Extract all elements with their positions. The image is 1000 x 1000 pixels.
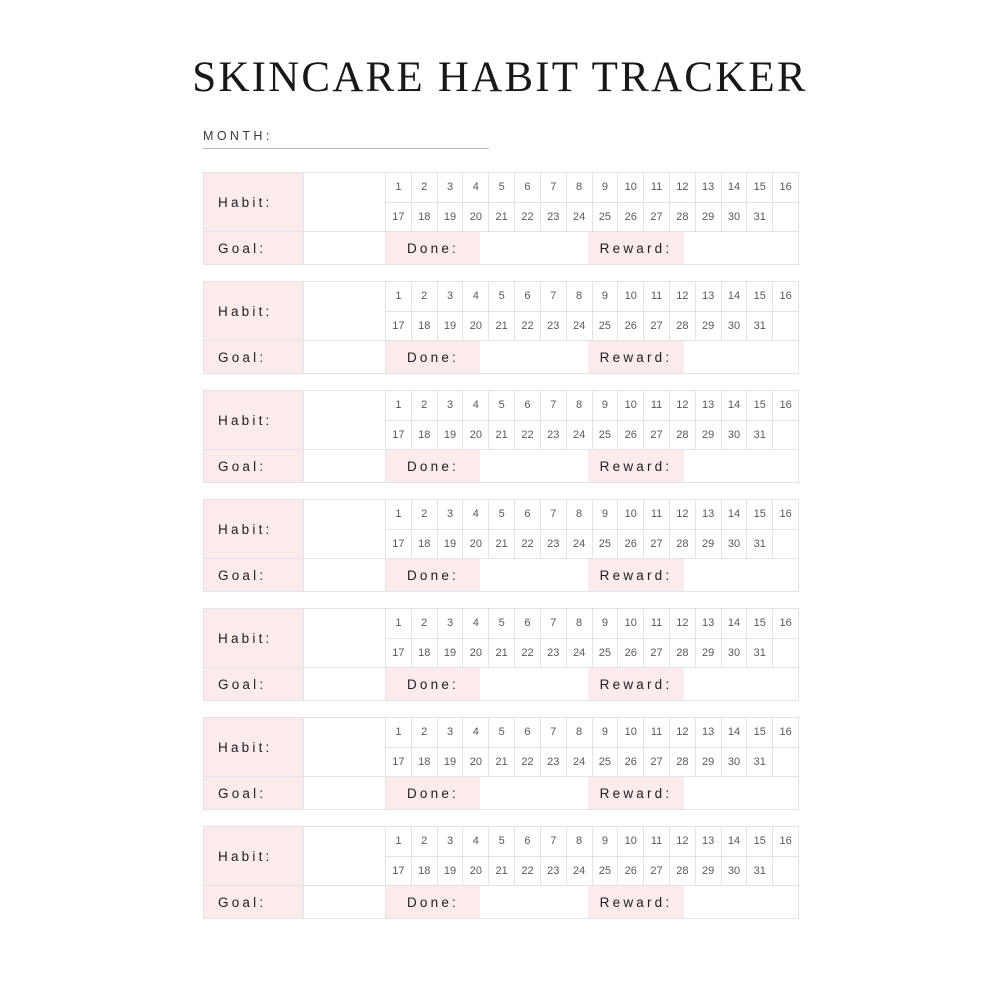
- day-cell-28[interactable]: 28: [670, 857, 696, 886]
- day-cell-31[interactable]: 31: [747, 312, 773, 341]
- day-cell-16[interactable]: 16: [773, 173, 798, 202]
- day-cell-7[interactable]: 7: [541, 500, 567, 529]
- day-cell-empty[interactable]: [773, 530, 798, 559]
- day-cell-31[interactable]: 31: [747, 421, 773, 450]
- day-cell-18[interactable]: 18: [412, 312, 438, 341]
- day-cell-10[interactable]: 10: [618, 500, 644, 529]
- day-cell-30[interactable]: 30: [722, 639, 748, 668]
- day-cell-24[interactable]: 24: [567, 312, 593, 341]
- day-cell-3[interactable]: 3: [438, 718, 464, 747]
- reward-label: Reward:: [588, 559, 684, 591]
- day-cell-2[interactable]: 2: [412, 609, 438, 638]
- done-input[interactable]: [480, 232, 588, 264]
- day-cell-12[interactable]: 12: [670, 500, 696, 529]
- day-cell-19[interactable]: 19: [438, 530, 464, 559]
- goal-label: Goal:: [204, 341, 304, 373]
- day-cell-2[interactable]: 2: [412, 500, 438, 529]
- day-cell-17[interactable]: 17: [386, 421, 412, 450]
- day-cell-11[interactable]: 11: [644, 500, 670, 529]
- day-cell-8[interactable]: 8: [567, 391, 593, 420]
- day-cell-30[interactable]: 30: [722, 203, 748, 232]
- reward-label: Reward:: [588, 341, 684, 373]
- day-cell-13[interactable]: 13: [696, 500, 722, 529]
- day-cell-14[interactable]: 14: [722, 827, 748, 856]
- day-cell-25[interactable]: 25: [593, 748, 619, 777]
- day-cell-29[interactable]: 29: [696, 857, 722, 886]
- day-cell-empty[interactable]: [773, 421, 798, 450]
- habit-blocks-list: Habit:1234567891011121314151617181920212…: [203, 172, 799, 919]
- goal-input[interactable]: [304, 559, 386, 591]
- day-cell-14[interactable]: 14: [722, 609, 748, 638]
- day-cell-10[interactable]: 10: [618, 718, 644, 747]
- day-cell-12[interactable]: 12: [670, 609, 696, 638]
- goal-input[interactable]: [304, 777, 386, 809]
- reward-input[interactable]: [684, 668, 798, 700]
- reward-input[interactable]: [684, 450, 798, 482]
- day-cell-22[interactable]: 22: [515, 530, 541, 559]
- day-cell-25[interactable]: 25: [593, 312, 619, 341]
- day-cell-22[interactable]: 22: [515, 857, 541, 886]
- day-cell-23[interactable]: 23: [541, 421, 567, 450]
- day-cell-13[interactable]: 13: [696, 173, 722, 202]
- day-cell-29[interactable]: 29: [696, 421, 722, 450]
- day-cell-25[interactable]: 25: [593, 530, 619, 559]
- day-cell-11[interactable]: 11: [644, 173, 670, 202]
- habit-input[interactable]: [304, 500, 386, 558]
- day-cell-10[interactable]: 10: [618, 391, 644, 420]
- day-cell-31[interactable]: 31: [747, 639, 773, 668]
- day-cell-20[interactable]: 20: [463, 857, 489, 886]
- habit-row: Habit:1234567891011121314151617181920212…: [204, 391, 798, 449]
- day-cell-23[interactable]: 23: [541, 639, 567, 668]
- day-cell-4[interactable]: 4: [463, 500, 489, 529]
- day-cell-16[interactable]: 16: [773, 391, 798, 420]
- day-cell-empty[interactable]: [773, 748, 798, 777]
- day-cell-15[interactable]: 15: [747, 391, 773, 420]
- day-cell-12[interactable]: 12: [670, 827, 696, 856]
- day-cell-15[interactable]: 15: [747, 500, 773, 529]
- day-cell-28[interactable]: 28: [670, 748, 696, 777]
- day-cell-23[interactable]: 23: [541, 748, 567, 777]
- day-cell-28[interactable]: 28: [670, 530, 696, 559]
- day-cell-empty[interactable]: [773, 857, 798, 886]
- done-input[interactable]: [480, 777, 588, 809]
- day-cell-23[interactable]: 23: [541, 312, 567, 341]
- habit-block: Habit:1234567891011121314151617181920212…: [203, 608, 799, 701]
- day-cell-13[interactable]: 13: [696, 391, 722, 420]
- day-cell-12[interactable]: 12: [670, 718, 696, 747]
- habit-input[interactable]: [304, 173, 386, 231]
- day-row-first-half: 12345678910111213141516: [386, 500, 798, 530]
- day-cell-27[interactable]: 27: [644, 639, 670, 668]
- day-cell-6[interactable]: 6: [515, 718, 541, 747]
- reward-label: Reward:: [588, 232, 684, 264]
- goal-label: Goal:: [204, 559, 304, 591]
- day-cell-17[interactable]: 17: [386, 857, 412, 886]
- day-cell-1[interactable]: 1: [386, 827, 412, 856]
- day-cell-22[interactable]: 22: [515, 312, 541, 341]
- day-cell-8[interactable]: 8: [567, 609, 593, 638]
- day-cell-31[interactable]: 31: [747, 857, 773, 886]
- day-row-second-half: 171819202122232425262728293031: [386, 530, 798, 559]
- day-row-second-half: 171819202122232425262728293031: [386, 639, 798, 668]
- habit-block: Habit:1234567891011121314151617181920212…: [203, 390, 799, 483]
- day-cell-10[interactable]: 10: [618, 282, 644, 311]
- day-cell-25[interactable]: 25: [593, 421, 619, 450]
- day-cell-28[interactable]: 28: [670, 203, 696, 232]
- done-label: Done:: [386, 886, 480, 918]
- day-cell-6[interactable]: 6: [515, 391, 541, 420]
- day-cell-4[interactable]: 4: [463, 282, 489, 311]
- habit-tracker-page: SKINCARE HABIT TRACKER MONTH: Habit:1234…: [0, 0, 1000, 1000]
- day-cell-18[interactable]: 18: [412, 857, 438, 886]
- goal-row: Goal:Done:Reward:: [204, 776, 798, 809]
- habit-input[interactable]: [304, 718, 386, 776]
- day-cell-10[interactable]: 10: [618, 173, 644, 202]
- day-cell-16[interactable]: 16: [773, 500, 798, 529]
- day-cell-11[interactable]: 11: [644, 718, 670, 747]
- reward-input[interactable]: [684, 232, 798, 264]
- day-cell-14[interactable]: 14: [722, 391, 748, 420]
- day-row-second-half: 171819202122232425262728293031: [386, 857, 798, 886]
- day-grid: 1234567891011121314151617181920212223242…: [386, 500, 798, 558]
- day-cell-9[interactable]: 9: [593, 718, 619, 747]
- day-cell-4[interactable]: 4: [463, 827, 489, 856]
- goal-input[interactable]: [304, 341, 386, 373]
- day-cell-20[interactable]: 20: [463, 203, 489, 232]
- reward-input[interactable]: [684, 341, 798, 373]
- day-cell-2[interactable]: 2: [412, 173, 438, 202]
- day-cell-14[interactable]: 14: [722, 282, 748, 311]
- habit-label: Habit:: [204, 173, 304, 231]
- day-cell-17[interactable]: 17: [386, 203, 412, 232]
- day-cell-13[interactable]: 13: [696, 282, 722, 311]
- day-cell-2[interactable]: 2: [412, 827, 438, 856]
- day-cell-22[interactable]: 22: [515, 421, 541, 450]
- day-cell-21[interactable]: 21: [489, 639, 515, 668]
- day-cell-20[interactable]: 20: [463, 421, 489, 450]
- day-cell-7[interactable]: 7: [541, 391, 567, 420]
- day-cell-1[interactable]: 1: [386, 173, 412, 202]
- goal-input[interactable]: [304, 232, 386, 264]
- day-cell-11[interactable]: 11: [644, 609, 670, 638]
- day-cell-30[interactable]: 30: [722, 530, 748, 559]
- day-cell-5[interactable]: 5: [489, 827, 515, 856]
- day-cell-22[interactable]: 22: [515, 639, 541, 668]
- day-cell-3[interactable]: 3: [438, 500, 464, 529]
- day-cell-5[interactable]: 5: [489, 718, 515, 747]
- done-input[interactable]: [480, 559, 588, 591]
- day-cell-29[interactable]: 29: [696, 748, 722, 777]
- day-cell-9[interactable]: 9: [593, 500, 619, 529]
- habit-input[interactable]: [304, 282, 386, 340]
- habit-label: Habit:: [204, 827, 304, 885]
- reward-input[interactable]: [684, 559, 798, 591]
- day-cell-26[interactable]: 26: [618, 203, 644, 232]
- day-cell-9[interactable]: 9: [593, 173, 619, 202]
- day-cell-23[interactable]: 23: [541, 203, 567, 232]
- day-grid: 1234567891011121314151617181920212223242…: [386, 718, 798, 776]
- day-cell-1[interactable]: 1: [386, 500, 412, 529]
- day-cell-2[interactable]: 2: [412, 718, 438, 747]
- habit-input[interactable]: [304, 609, 386, 667]
- day-cell-29[interactable]: 29: [696, 639, 722, 668]
- day-cell-14[interactable]: 14: [722, 500, 748, 529]
- goal-label: Goal:: [204, 777, 304, 809]
- day-cell-20[interactable]: 20: [463, 639, 489, 668]
- day-cell-3[interactable]: 3: [438, 282, 464, 311]
- day-cell-29[interactable]: 29: [696, 312, 722, 341]
- day-cell-3[interactable]: 3: [438, 827, 464, 856]
- reward-label: Reward:: [588, 668, 684, 700]
- day-cell-1[interactable]: 1: [386, 282, 412, 311]
- day-cell-26[interactable]: 26: [618, 530, 644, 559]
- day-grid: 1234567891011121314151617181920212223242…: [386, 609, 798, 667]
- day-cell-3[interactable]: 3: [438, 391, 464, 420]
- day-cell-5[interactable]: 5: [489, 500, 515, 529]
- habit-row: Habit:1234567891011121314151617181920212…: [204, 173, 798, 231]
- day-cell-20[interactable]: 20: [463, 530, 489, 559]
- day-cell-6[interactable]: 6: [515, 173, 541, 202]
- habit-label: Habit:: [204, 609, 304, 667]
- day-cell-17[interactable]: 17: [386, 530, 412, 559]
- day-cell-26[interactable]: 26: [618, 857, 644, 886]
- day-cell-8[interactable]: 8: [567, 827, 593, 856]
- day-cell-27[interactable]: 27: [644, 421, 670, 450]
- habit-row: Habit:1234567891011121314151617181920212…: [204, 282, 798, 340]
- goal-label: Goal:: [204, 232, 304, 264]
- goal-label: Goal:: [204, 668, 304, 700]
- day-cell-16[interactable]: 16: [773, 609, 798, 638]
- day-cell-25[interactable]: 25: [593, 857, 619, 886]
- day-cell-10[interactable]: 10: [618, 609, 644, 638]
- day-cell-7[interactable]: 7: [541, 609, 567, 638]
- day-cell-4[interactable]: 4: [463, 718, 489, 747]
- day-cell-11[interactable]: 11: [644, 391, 670, 420]
- day-cell-16[interactable]: 16: [773, 718, 798, 747]
- day-cell-11[interactable]: 11: [644, 282, 670, 311]
- day-cell-24[interactable]: 24: [567, 639, 593, 668]
- day-cell-4[interactable]: 4: [463, 391, 489, 420]
- day-cell-27[interactable]: 27: [644, 530, 670, 559]
- day-cell-21[interactable]: 21: [489, 312, 515, 341]
- day-row-first-half: 12345678910111213141516: [386, 827, 798, 857]
- day-cell-24[interactable]: 24: [567, 857, 593, 886]
- goal-input[interactable]: [304, 886, 386, 918]
- day-cell-30[interactable]: 30: [722, 857, 748, 886]
- day-cell-8[interactable]: 8: [567, 500, 593, 529]
- day-row-second-half: 171819202122232425262728293031: [386, 312, 798, 341]
- day-cell-27[interactable]: 27: [644, 748, 670, 777]
- day-cell-22[interactable]: 22: [515, 203, 541, 232]
- day-cell-9[interactable]: 9: [593, 282, 619, 311]
- day-cell-28[interactable]: 28: [670, 639, 696, 668]
- month-write-line[interactable]: [203, 148, 489, 149]
- day-cell-7[interactable]: 7: [541, 718, 567, 747]
- day-cell-28[interactable]: 28: [670, 312, 696, 341]
- day-cell-19[interactable]: 19: [438, 857, 464, 886]
- day-cell-5[interactable]: 5: [489, 173, 515, 202]
- day-cell-31[interactable]: 31: [747, 530, 773, 559]
- day-cell-8[interactable]: 8: [567, 718, 593, 747]
- day-cell-3[interactable]: 3: [438, 173, 464, 202]
- day-cell-17[interactable]: 17: [386, 639, 412, 668]
- day-cell-25[interactable]: 25: [593, 639, 619, 668]
- day-cell-6[interactable]: 6: [515, 282, 541, 311]
- day-cell-9[interactable]: 9: [593, 827, 619, 856]
- habit-row: Habit:1234567891011121314151617181920212…: [204, 609, 798, 667]
- day-cell-24[interactable]: 24: [567, 421, 593, 450]
- goal-input[interactable]: [304, 668, 386, 700]
- day-cell-7[interactable]: 7: [541, 827, 567, 856]
- day-cell-16[interactable]: 16: [773, 282, 798, 311]
- day-cell-18[interactable]: 18: [412, 530, 438, 559]
- day-cell-8[interactable]: 8: [567, 173, 593, 202]
- day-cell-29[interactable]: 29: [696, 530, 722, 559]
- day-cell-30[interactable]: 30: [722, 421, 748, 450]
- day-cell-14[interactable]: 14: [722, 173, 748, 202]
- reward-label: Reward:: [588, 777, 684, 809]
- done-input[interactable]: [480, 886, 588, 918]
- month-label: MONTH:: [203, 128, 489, 144]
- day-cell-24[interactable]: 24: [567, 748, 593, 777]
- day-cell-19[interactable]: 19: [438, 748, 464, 777]
- done-input[interactable]: [480, 668, 588, 700]
- day-cell-20[interactable]: 20: [463, 748, 489, 777]
- day-cell-21[interactable]: 21: [489, 857, 515, 886]
- day-cell-4[interactable]: 4: [463, 173, 489, 202]
- day-cell-19[interactable]: 19: [438, 312, 464, 341]
- day-cell-5[interactable]: 5: [489, 609, 515, 638]
- day-cell-27[interactable]: 27: [644, 312, 670, 341]
- day-cell-26[interactable]: 26: [618, 748, 644, 777]
- day-cell-27[interactable]: 27: [644, 857, 670, 886]
- day-cell-14[interactable]: 14: [722, 718, 748, 747]
- day-cell-26[interactable]: 26: [618, 639, 644, 668]
- day-cell-9[interactable]: 9: [593, 609, 619, 638]
- day-cell-23[interactable]: 23: [541, 530, 567, 559]
- day-cell-2[interactable]: 2: [412, 282, 438, 311]
- day-cell-12[interactable]: 12: [670, 173, 696, 202]
- day-cell-30[interactable]: 30: [722, 312, 748, 341]
- day-cell-19[interactable]: 19: [438, 639, 464, 668]
- day-cell-20[interactable]: 20: [463, 312, 489, 341]
- day-cell-21[interactable]: 21: [489, 530, 515, 559]
- day-cell-26[interactable]: 26: [618, 421, 644, 450]
- day-cell-5[interactable]: 5: [489, 282, 515, 311]
- goal-input[interactable]: [304, 450, 386, 482]
- habit-block: Habit:1234567891011121314151617181920212…: [203, 717, 799, 810]
- day-cell-2[interactable]: 2: [412, 391, 438, 420]
- day-row-second-half: 171819202122232425262728293031: [386, 421, 798, 450]
- day-cell-1[interactable]: 1: [386, 718, 412, 747]
- day-cell-17[interactable]: 17: [386, 748, 412, 777]
- done-input[interactable]: [480, 450, 588, 482]
- done-label: Done:: [386, 668, 480, 700]
- day-cell-29[interactable]: 29: [696, 203, 722, 232]
- day-cell-25[interactable]: 25: [593, 203, 619, 232]
- day-cell-18[interactable]: 18: [412, 421, 438, 450]
- day-grid: 1234567891011121314151617181920212223242…: [386, 391, 798, 449]
- day-cell-18[interactable]: 18: [412, 639, 438, 668]
- goal-row: Goal:Done:Reward:: [204, 449, 798, 482]
- day-cell-8[interactable]: 8: [567, 282, 593, 311]
- done-input[interactable]: [480, 341, 588, 373]
- day-cell-12[interactable]: 12: [670, 391, 696, 420]
- done-label: Done:: [386, 232, 480, 264]
- day-cell-27[interactable]: 27: [644, 203, 670, 232]
- day-cell-empty[interactable]: [773, 203, 798, 232]
- day-cell-19[interactable]: 19: [438, 421, 464, 450]
- day-cell-31[interactable]: 31: [747, 748, 773, 777]
- reward-input[interactable]: [684, 886, 798, 918]
- day-cell-19[interactable]: 19: [438, 203, 464, 232]
- habit-row: Habit:1234567891011121314151617181920212…: [204, 500, 798, 558]
- day-cell-22[interactable]: 22: [515, 748, 541, 777]
- day-cell-18[interactable]: 18: [412, 748, 438, 777]
- habit-input[interactable]: [304, 827, 386, 885]
- day-cell-5[interactable]: 5: [489, 391, 515, 420]
- habit-block: Habit:1234567891011121314151617181920212…: [203, 172, 799, 265]
- day-cell-13[interactable]: 13: [696, 827, 722, 856]
- day-cell-1[interactable]: 1: [386, 391, 412, 420]
- day-cell-21[interactable]: 21: [489, 421, 515, 450]
- day-cell-7[interactable]: 7: [541, 282, 567, 311]
- day-cell-empty[interactable]: [773, 639, 798, 668]
- day-cell-6[interactable]: 6: [515, 827, 541, 856]
- day-cell-15[interactable]: 15: [747, 282, 773, 311]
- day-cell-18[interactable]: 18: [412, 203, 438, 232]
- day-cell-26[interactable]: 26: [618, 312, 644, 341]
- habit-row: Habit:1234567891011121314151617181920212…: [204, 718, 798, 776]
- day-cell-24[interactable]: 24: [567, 203, 593, 232]
- day-cell-15[interactable]: 15: [747, 609, 773, 638]
- day-cell-6[interactable]: 6: [515, 609, 541, 638]
- day-row-first-half: 12345678910111213141516: [386, 609, 798, 639]
- day-cell-13[interactable]: 13: [696, 609, 722, 638]
- habit-label: Habit:: [204, 500, 304, 558]
- day-cell-empty[interactable]: [773, 312, 798, 341]
- day-cell-21[interactable]: 21: [489, 203, 515, 232]
- day-cell-31[interactable]: 31: [747, 203, 773, 232]
- day-cell-21[interactable]: 21: [489, 748, 515, 777]
- day-cell-17[interactable]: 17: [386, 312, 412, 341]
- goal-row: Goal:Done:Reward:: [204, 667, 798, 700]
- day-cell-11[interactable]: 11: [644, 827, 670, 856]
- day-cell-9[interactable]: 9: [593, 391, 619, 420]
- day-cell-13[interactable]: 13: [696, 718, 722, 747]
- day-cell-28[interactable]: 28: [670, 421, 696, 450]
- day-cell-15[interactable]: 15: [747, 718, 773, 747]
- day-cell-24[interactable]: 24: [567, 530, 593, 559]
- day-cell-15[interactable]: 15: [747, 173, 773, 202]
- day-cell-6[interactable]: 6: [515, 500, 541, 529]
- day-cell-1[interactable]: 1: [386, 609, 412, 638]
- habit-input[interactable]: [304, 391, 386, 449]
- goal-row: Goal:Done:Reward:: [204, 231, 798, 264]
- habit-block: Habit:1234567891011121314151617181920212…: [203, 826, 799, 919]
- day-cell-30[interactable]: 30: [722, 748, 748, 777]
- day-cell-4[interactable]: 4: [463, 609, 489, 638]
- day-cell-7[interactable]: 7: [541, 173, 567, 202]
- day-cell-12[interactable]: 12: [670, 282, 696, 311]
- day-cell-3[interactable]: 3: [438, 609, 464, 638]
- day-cell-23[interactable]: 23: [541, 857, 567, 886]
- day-cell-16[interactable]: 16: [773, 827, 798, 856]
- day-cell-15[interactable]: 15: [747, 827, 773, 856]
- day-cell-10[interactable]: 10: [618, 827, 644, 856]
- reward-input[interactable]: [684, 777, 798, 809]
